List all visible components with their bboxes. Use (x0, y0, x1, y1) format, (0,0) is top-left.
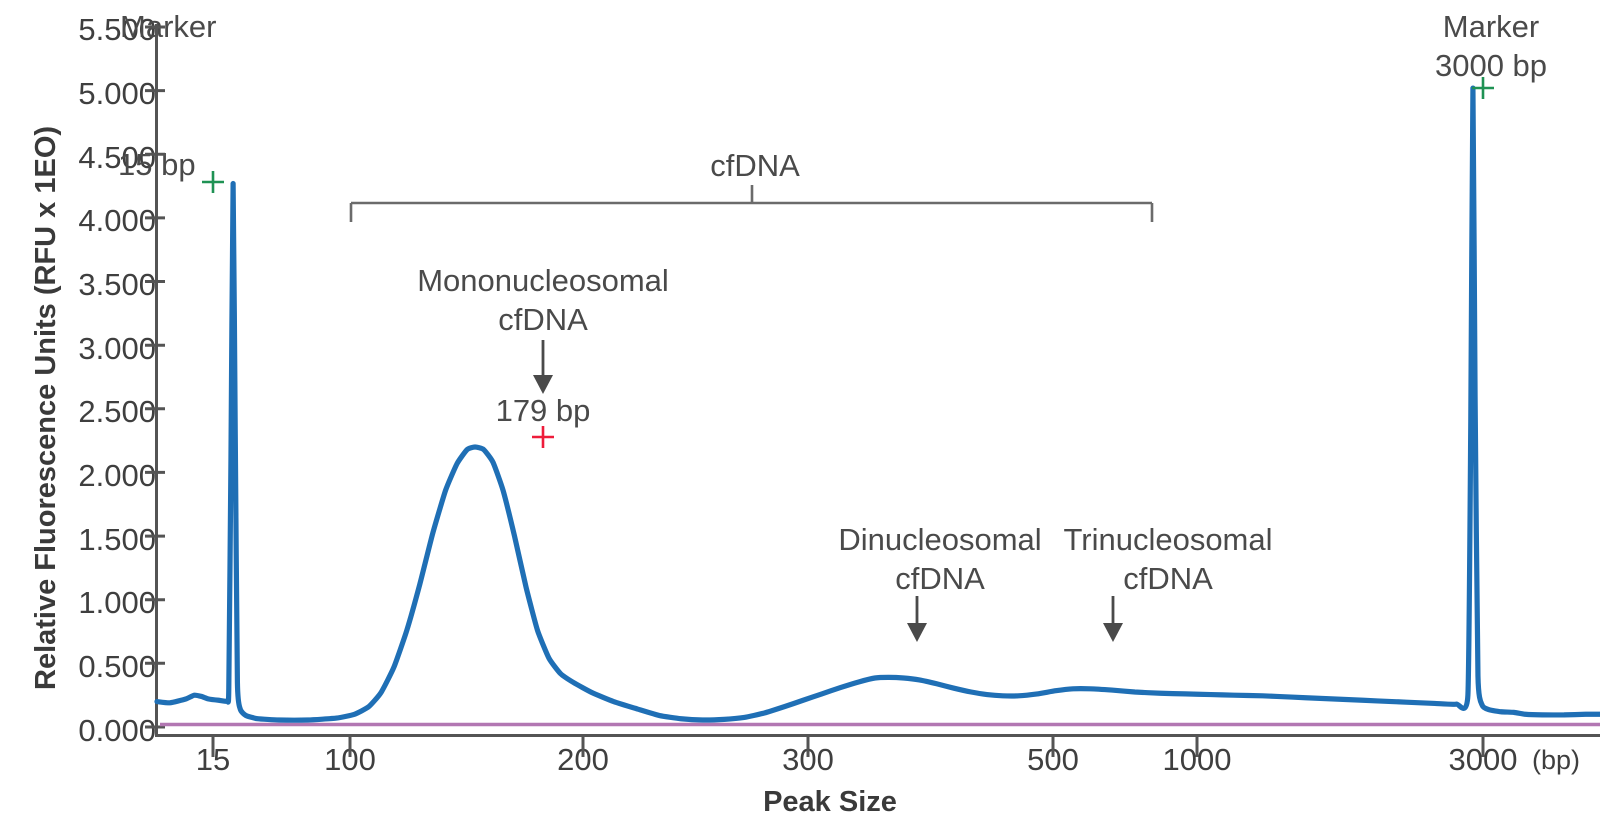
cfdna-bracket (351, 185, 1152, 222)
electropherogram-trace (157, 88, 1600, 720)
peak-marker-15bp (202, 171, 224, 193)
plot-canvas (0, 0, 1600, 826)
electropherogram-chart: 5.500 5.000 4.500 4.000 3.500 3.000 2.50… (0, 0, 1600, 826)
annotation-arrows (533, 340, 1123, 642)
peak-marker-179bp (532, 426, 554, 448)
x-axis-ticks (213, 735, 1483, 757)
